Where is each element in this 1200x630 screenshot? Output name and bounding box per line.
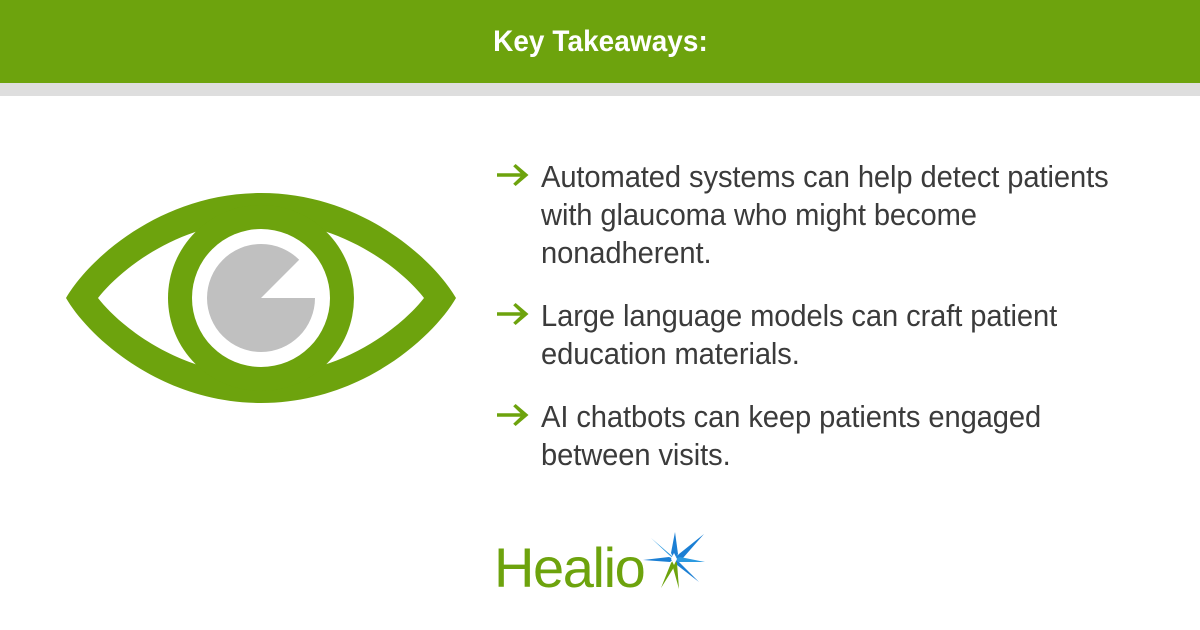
- compass-star-icon: [641, 532, 707, 590]
- list-item: Automated systems can help detect patien…: [497, 158, 1157, 272]
- header-bar: Key Takeaways:: [0, 0, 1200, 83]
- key-takeaways-card: Key Takeaways:: [0, 0, 1200, 630]
- body-area: Automated systems can help detect patien…: [0, 96, 1200, 630]
- healio-wordmark: Healio: [494, 540, 644, 596]
- header-divider: [0, 83, 1200, 96]
- takeaway-text: Large language models can craft patient …: [541, 297, 1129, 373]
- takeaway-list: Automated systems can help detect patien…: [497, 158, 1157, 474]
- arrow-right-icon: [497, 398, 541, 426]
- arrow-right-icon: [497, 158, 541, 186]
- takeaway-text: AI chatbots can keep patients engaged be…: [541, 398, 1129, 474]
- list-item: Large language models can craft patient …: [497, 297, 1157, 373]
- eye-icon-graphic: [62, 188, 460, 408]
- healio-logo-inner: Healio: [494, 534, 706, 600]
- healio-logo: Healio: [0, 534, 1200, 600]
- list-item: AI chatbots can keep patients engaged be…: [497, 398, 1157, 474]
- page-title: Key Takeaways:: [493, 27, 708, 57]
- arrow-right-icon: [497, 297, 541, 325]
- eye-icon: [62, 188, 460, 408]
- takeaway-text: Automated systems can help detect patien…: [541, 158, 1129, 272]
